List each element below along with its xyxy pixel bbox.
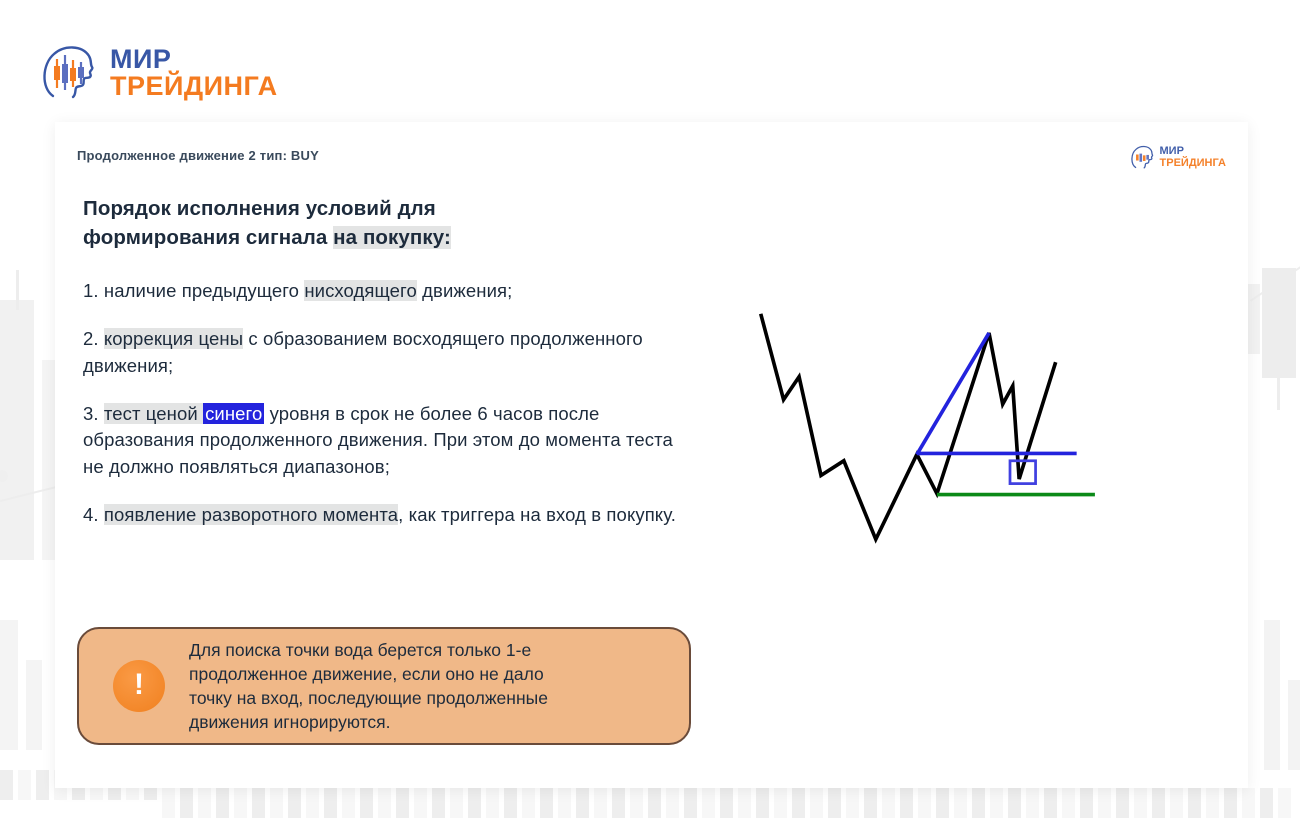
decor-stripe: [864, 788, 877, 818]
decor-stripe: [558, 788, 571, 818]
decor-stripe: [594, 788, 607, 818]
condition-item-4: 4. появление разворотного момента, как т…: [83, 502, 683, 528]
decor-wick: [1277, 370, 1280, 410]
heading-line-2-highlight: на покупку:: [333, 226, 451, 249]
decor-stripe: [810, 788, 823, 818]
decor-stripe: [1188, 788, 1201, 818]
decor-stripe: [1278, 788, 1291, 818]
decor-trendline: [1250, 261, 1300, 302]
decor-candle: [0, 300, 34, 560]
decor-stripe: [522, 788, 535, 818]
decor-stripe: [540, 788, 553, 818]
condition-3-pre-highlight: тест ценой: [104, 403, 203, 424]
decor-stripe: [378, 788, 391, 818]
condition-4-highlight: появление разворотного момента: [104, 504, 398, 525]
decor-stripe: [900, 788, 913, 818]
brand-line-1: МИР: [110, 46, 278, 73]
decor-stripe: [216, 788, 229, 818]
decor-stripe: [1170, 788, 1183, 818]
slide-card: Продолженное движение 2 тип: BUY МИР ТРЕ…: [55, 122, 1248, 788]
head-candlestick-logo-icon: [1130, 144, 1155, 171]
condition-1-post: движения;: [417, 280, 512, 301]
decor-stripe: [1080, 788, 1093, 818]
decor-stripe: [1134, 788, 1147, 818]
decor-stripe: [198, 788, 211, 818]
card-watermark-logo: МИР ТРЕЙДИНГА: [1130, 144, 1226, 171]
decor-stripe: [324, 788, 337, 818]
decor-stripe: [1206, 788, 1219, 818]
decor-candle: [1262, 268, 1296, 378]
decor-stripe: [774, 788, 787, 818]
decor-stripe: [180, 788, 193, 818]
decor-stripe: [342, 788, 355, 818]
decor-stripe: [414, 788, 427, 818]
brand-line-2: ТРЕЙДИНГА: [110, 73, 278, 100]
exclamation-glyph: !: [134, 670, 144, 700]
decor-stripe: [738, 788, 751, 818]
condition-4-number: 4.: [83, 504, 104, 525]
exclamation-icon: !: [113, 660, 165, 712]
decor-stripe: [234, 788, 247, 818]
decor-stripe: [954, 788, 967, 818]
decor-stripe: [360, 788, 373, 818]
decor-stripe: [666, 788, 679, 818]
decor-stripe: [720, 788, 733, 818]
decor-stripe: [756, 788, 769, 818]
chart-series-blue-trend-line: [917, 333, 989, 454]
decor-stripe: [1242, 788, 1255, 818]
condition-2-number: 2.: [83, 328, 104, 349]
chart-series-price-zigzag: [761, 314, 1056, 540]
brand-logo: МИР ТРЕЙДИНГА: [40, 42, 278, 104]
decor-stripe: [450, 788, 463, 818]
decor-stripe: [1008, 788, 1021, 818]
condition-item-1: 1. наличие предыдущего нисходящего движе…: [83, 278, 683, 304]
decor-stripe: [1044, 788, 1057, 818]
decor-stripe: [702, 788, 715, 818]
condition-4-post: , как триггера на вход в покупку.: [398, 504, 676, 525]
decor-stripe: [486, 788, 499, 818]
decor-candle: [0, 470, 8, 482]
condition-1-highlight: нисходящего: [304, 280, 417, 301]
callout-line-4: движения игнорируются.: [189, 710, 548, 734]
decor-stripe: [1116, 788, 1129, 818]
conditions-text-column: Порядок исполнения условий для формирова…: [83, 194, 683, 528]
head-candlestick-logo-icon: [40, 42, 98, 104]
callout-line-2: продолженное движение, если оно не дало: [189, 662, 548, 686]
decor-stripe: [630, 788, 643, 818]
decor-stripe: [972, 788, 985, 818]
decor-candle: [0, 620, 18, 750]
decor-stripe: [1152, 788, 1165, 818]
card-watermark-line-2: ТРЕЙДИНГА: [1160, 158, 1226, 170]
decor-stripe: [18, 770, 31, 800]
decor-stripe: [828, 788, 841, 818]
decor-stripe: [306, 788, 319, 818]
decor-stripe: [1026, 788, 1039, 818]
page-title: Порядок исполнения условий для формирова…: [83, 194, 683, 252]
decor-stripe: [576, 788, 589, 818]
decor-stripe: [846, 788, 859, 818]
decor-stripe: [1260, 788, 1273, 818]
warning-callout: ! Для поиска точки вода берется только 1…: [77, 627, 691, 745]
callout-line-1: Для поиска точки вода берется только 1-е: [189, 638, 548, 662]
decor-stripe: [396, 788, 409, 818]
decor-stripe: [162, 788, 175, 818]
decor-stripe: [252, 788, 265, 818]
condition-3-number: 3.: [83, 403, 104, 424]
decor-stripe: [684, 788, 697, 818]
heading-line-1: Порядок исполнения условий для: [83, 197, 436, 220]
heading-line-2-plain: формирования сигнала: [83, 226, 333, 249]
decor-wick: [16, 270, 19, 310]
decor-stripe: [882, 788, 895, 818]
warning-callout-text: Для поиска точки вода берется только 1-е…: [189, 638, 548, 735]
slide-subtitle: Продолженное движение 2 тип: BUY: [77, 148, 319, 163]
condition-1-pre: наличие предыдущего: [104, 280, 304, 301]
decor-stripe: [432, 788, 445, 818]
card-watermark-line-1: МИР: [1160, 146, 1226, 158]
price-action-chart: [695, 282, 1115, 572]
condition-1-number: 1.: [83, 280, 104, 301]
decor-candle: [1246, 284, 1260, 354]
decor-stripe: [288, 788, 301, 818]
decor-stripe: [936, 788, 949, 818]
condition-2-highlight: коррекция цены: [104, 328, 243, 349]
decor-stripe: [468, 788, 481, 818]
decor-stripe: [990, 788, 1003, 818]
decor-stripe: [0, 770, 13, 800]
decor-stripe: [612, 788, 625, 818]
decor-stripe: [648, 788, 661, 818]
decor-candle: [1264, 620, 1280, 770]
decor-stripe: [792, 788, 805, 818]
callout-line-3: точку на вход, последующие продолженные: [189, 686, 548, 710]
decor-candle: [26, 660, 42, 750]
condition-item-3: 3. тест ценой синего уровня в срок не бо…: [83, 401, 683, 480]
decor-stripe: [504, 788, 517, 818]
condition-item-2: 2. коррекция цены с образованием восходя…: [83, 326, 683, 379]
decor-stripe: [1224, 788, 1237, 818]
decor-stripe: [918, 788, 931, 818]
decor-stripe: [1098, 788, 1111, 818]
condition-3-highlight: синего: [203, 403, 264, 424]
decor-stripe: [270, 788, 283, 818]
decor-candle: [1288, 680, 1300, 770]
decor-stripe: [1062, 788, 1075, 818]
decor-stripe: [36, 770, 49, 800]
